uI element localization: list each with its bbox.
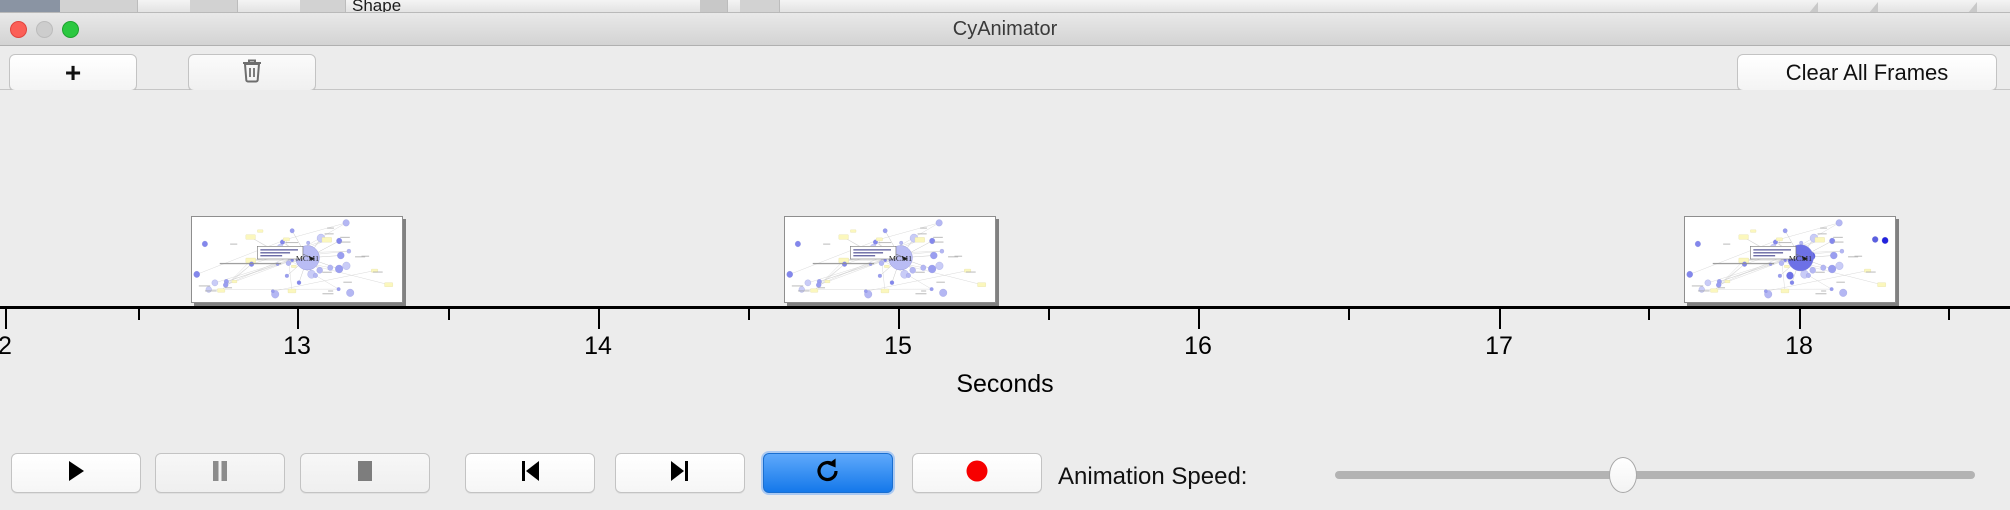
pause-button[interactable] xyxy=(155,453,285,493)
title-bar: CyAnimator xyxy=(0,13,2010,46)
axis-major-tick xyxy=(297,309,299,329)
timeline-panel[interactable]: MCM1 MCM1 xyxy=(0,90,2010,418)
axis-tick-label: 15 xyxy=(884,332,912,361)
slider-rail[interactable] xyxy=(1335,471,1975,479)
axis-minor-tick xyxy=(448,309,450,320)
svg-text:MCM1: MCM1 xyxy=(296,254,319,263)
loop-button[interactable] xyxy=(763,453,893,493)
axis-major-tick xyxy=(5,309,7,329)
axis-major-tick xyxy=(1499,309,1501,329)
play-button[interactable] xyxy=(11,453,141,493)
skip-forward-icon xyxy=(668,459,692,488)
axis-minor-tick xyxy=(138,309,140,320)
axis-minor-tick xyxy=(1048,309,1050,320)
delete-frame-button[interactable] xyxy=(188,54,316,91)
pause-icon xyxy=(210,459,230,488)
loop-icon xyxy=(814,457,842,490)
axis-tick-label: 16 xyxy=(1184,332,1212,361)
axis-major-tick xyxy=(1198,309,1200,329)
timeline-axis xyxy=(0,306,2010,309)
animation-speed-slider[interactable] xyxy=(1335,471,2010,479)
previous-frame-button[interactable] xyxy=(465,453,595,493)
background-sort-icon-2 xyxy=(1866,2,1878,13)
axis-tick-label: 18 xyxy=(1785,332,1813,361)
record-icon xyxy=(964,458,990,489)
background-col-2 xyxy=(190,0,238,13)
add-frame-button[interactable]: + xyxy=(9,54,137,91)
axis-minor-tick xyxy=(1348,309,1350,320)
background-window-strip: Shape xyxy=(0,0,2010,13)
cyanimator-window: Shape CyAnimator + Clear xyxy=(0,0,2010,510)
background-sort-icon-1 xyxy=(1806,2,1818,13)
play-icon xyxy=(66,459,86,488)
axis-tick-label: 13 xyxy=(283,332,311,361)
axis-minor-tick xyxy=(748,309,750,320)
timeline-track[interactable]: MCM1 MCM1 xyxy=(0,90,2010,310)
background-col-3 xyxy=(300,0,346,13)
skip-back-icon xyxy=(518,459,542,488)
slider-knob[interactable] xyxy=(1609,457,1637,493)
background-col-5 xyxy=(740,0,780,13)
timeline-frame-thumbnail[interactable]: MCM1 xyxy=(191,216,403,303)
trash-icon xyxy=(240,57,264,89)
background-col-4 xyxy=(700,0,728,13)
axis-tick-label: 2 xyxy=(0,332,12,361)
axis-major-tick xyxy=(1799,309,1801,329)
background-col-1 xyxy=(60,0,138,13)
timeline-frame-thumbnail[interactable]: MCM1 xyxy=(784,216,996,303)
stop-icon xyxy=(354,459,376,488)
next-frame-button[interactable] xyxy=(615,453,745,493)
record-button[interactable] xyxy=(912,453,1042,493)
timeline-frame-thumbnail[interactable]: MCM1 xyxy=(1684,216,1896,303)
axis-tick-label: 17 xyxy=(1485,332,1513,361)
axis-major-tick xyxy=(598,309,600,329)
background-window-label: Shape xyxy=(352,0,401,13)
svg-text:MCM1: MCM1 xyxy=(889,254,912,263)
stop-button[interactable] xyxy=(300,453,430,493)
animation-speed-label: Animation Speed: xyxy=(1058,463,1247,491)
clear-all-frames-button[interactable]: Clear All Frames xyxy=(1737,54,1997,91)
svg-text:MCM1: MCM1 xyxy=(1789,254,1812,263)
axis-title: Seconds xyxy=(0,370,2010,399)
axis-major-tick xyxy=(898,309,900,329)
toolbar: + Clear All Frames xyxy=(0,46,2010,90)
axis-tick-label: 14 xyxy=(584,332,612,361)
background-sort-icon-3 xyxy=(1965,2,1977,13)
window-title: CyAnimator xyxy=(0,13,2010,46)
axis-minor-tick xyxy=(1948,309,1950,320)
background-sidebar-block xyxy=(0,0,60,13)
plus-icon: + xyxy=(65,59,81,87)
playback-control-bar: Animation Speed: xyxy=(0,440,2010,510)
axis-minor-tick xyxy=(1648,309,1650,320)
